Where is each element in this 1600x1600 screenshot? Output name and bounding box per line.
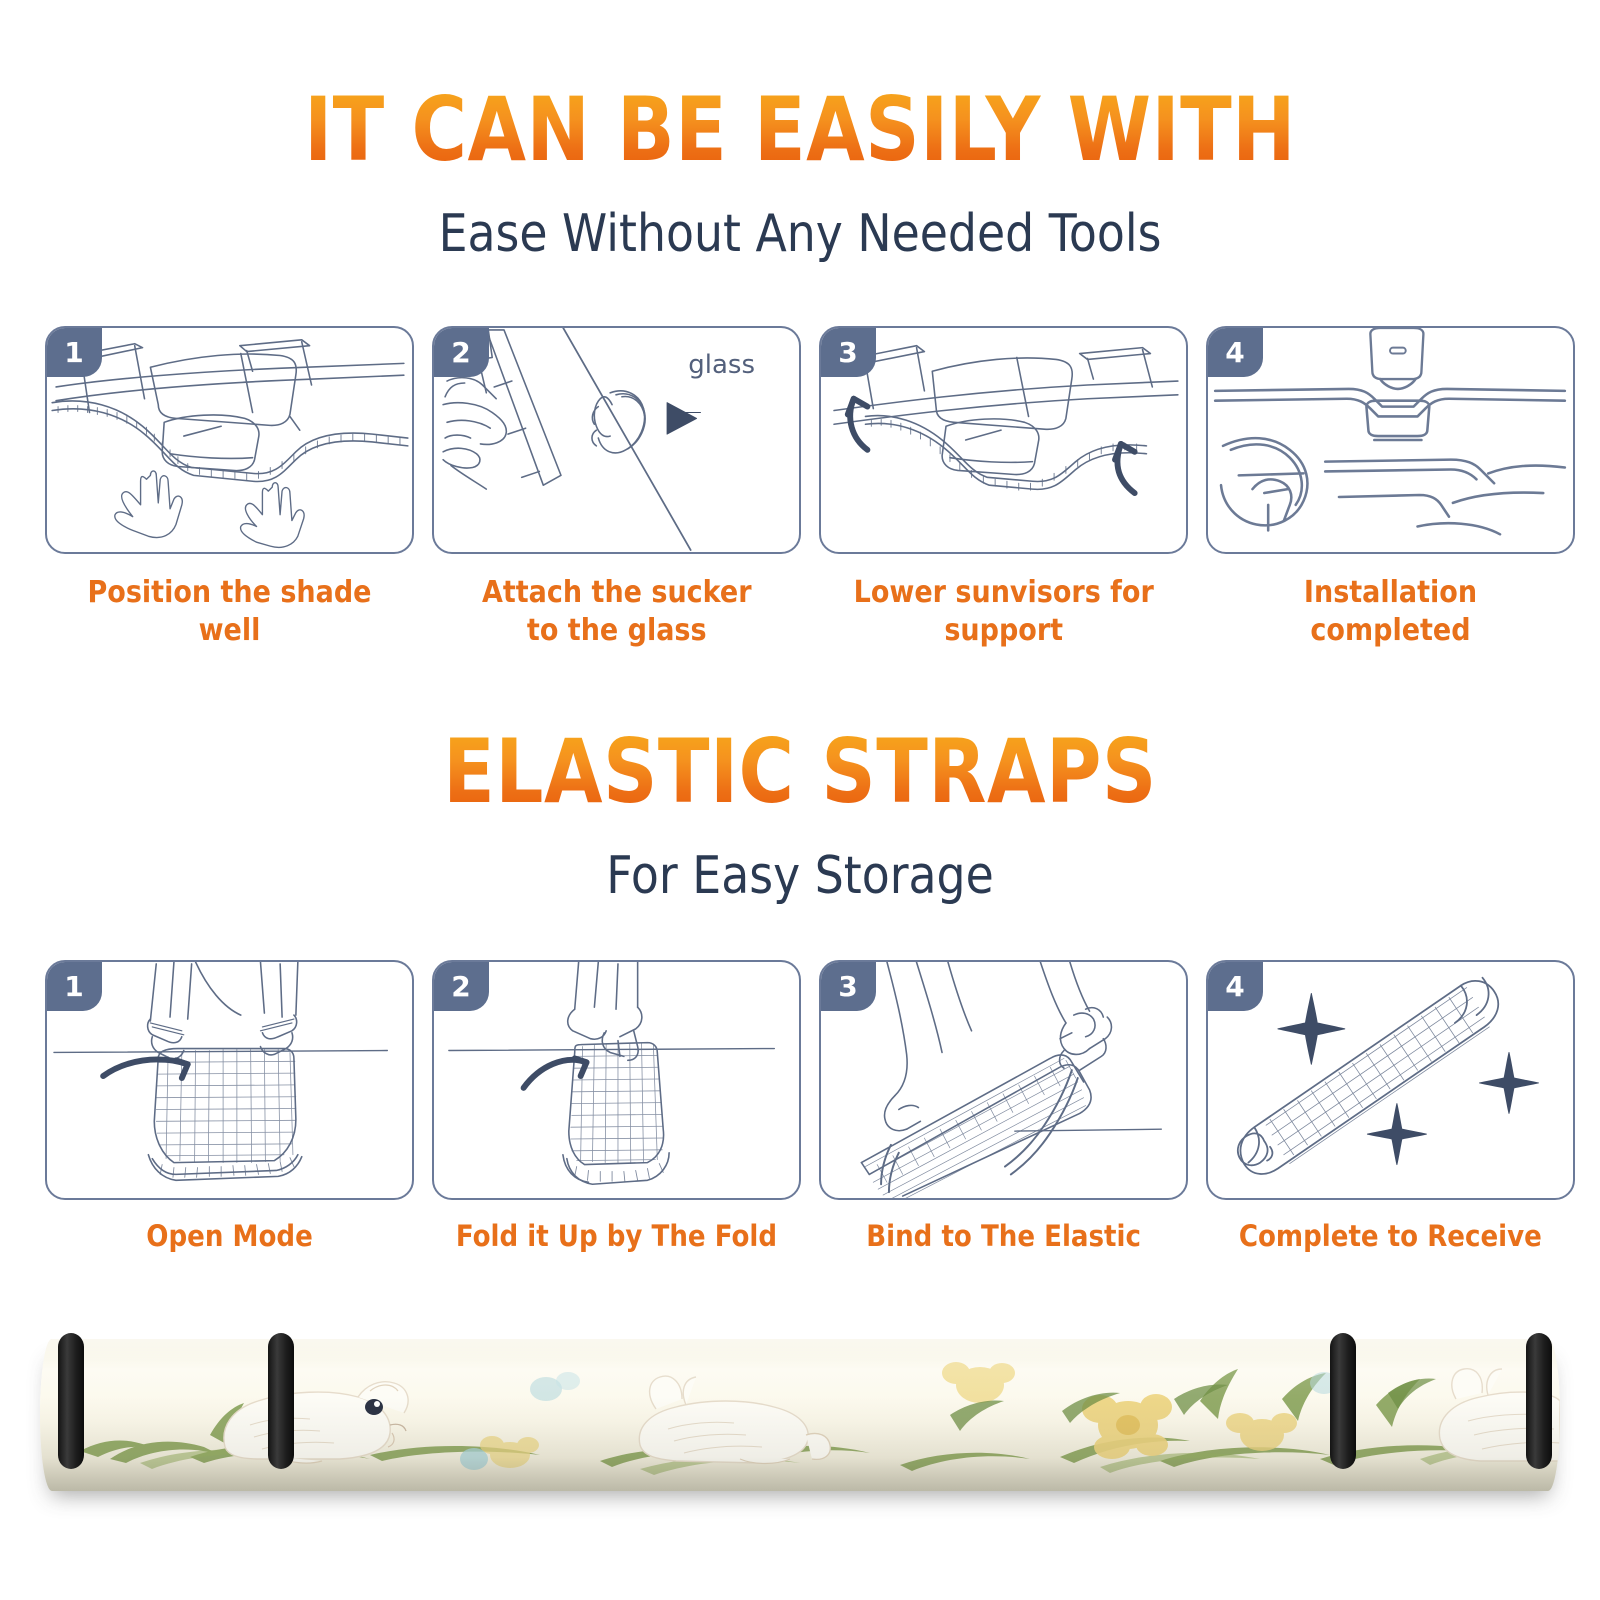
hands-open-mat-icon bbox=[47, 962, 412, 1198]
rolled-mat-sparkles-icon bbox=[1208, 962, 1573, 1198]
installation-title: IT CAN BE EASILY WITH bbox=[112, 86, 1488, 174]
step-caption: Bind to The Elastic bbox=[866, 1218, 1141, 1255]
storage-section-heading: ELASTIC STRAPS For Easy Storage bbox=[0, 728, 1600, 902]
step-caption: Open Mode bbox=[146, 1218, 313, 1255]
installation-step-3[interactable]: 3 bbox=[819, 326, 1188, 651]
storage-steps-row: 1 bbox=[45, 960, 1555, 1255]
step-number-badge: 1 bbox=[46, 961, 102, 1011]
step-number-badge: 2 bbox=[433, 327, 489, 377]
installation-section-heading: IT CAN BE EASILY WITH Ease Without Any N… bbox=[0, 86, 1600, 260]
step-card[interactable]: 4 bbox=[1206, 326, 1575, 554]
storage-step-1[interactable]: 1 bbox=[45, 960, 414, 1255]
step-number-badge: 2 bbox=[433, 961, 489, 1011]
step-caption: Position the shade well bbox=[63, 574, 395, 651]
step-number-badge: 4 bbox=[1207, 961, 1263, 1011]
step-caption: Complete to Receive bbox=[1239, 1218, 1542, 1255]
storage-subtitle: For Easy Storage bbox=[96, 850, 1504, 902]
step-number-badge: 4 bbox=[1207, 327, 1263, 377]
installation-steps-row: 1 bbox=[45, 326, 1555, 651]
step-card[interactable]: 3 bbox=[819, 326, 1188, 554]
storage-step-2[interactable]: 2 bbox=[432, 960, 801, 1255]
step-card[interactable]: 1 bbox=[45, 326, 414, 554]
hands-bind-roll-icon bbox=[821, 962, 1186, 1198]
installation-step-2[interactable]: 2 glass bbox=[432, 326, 801, 651]
step-number-badge: 3 bbox=[820, 327, 876, 377]
installation-step-4[interactable]: 4 bbox=[1206, 326, 1575, 651]
elastic-strap bbox=[268, 1333, 294, 1469]
hands-fold-mat-icon bbox=[434, 962, 799, 1198]
step-card[interactable]: 2 glass bbox=[432, 326, 801, 554]
storage-title: ELASTIC STRAPS bbox=[112, 728, 1488, 816]
sunvisors-down-arrows-icon bbox=[821, 328, 1186, 552]
elastic-strap bbox=[58, 1333, 84, 1469]
installation-subtitle: Ease Without Any Needed Tools bbox=[96, 208, 1504, 260]
step-card[interactable]: 3 bbox=[819, 960, 1188, 1200]
step-caption: Installation completed bbox=[1224, 574, 1556, 651]
installation-step-1[interactable]: 1 bbox=[45, 326, 414, 651]
storage-step-4[interactable]: 4 Complete t bbox=[1206, 960, 1575, 1255]
rolled-sunshade-photo bbox=[40, 1325, 1560, 1510]
step-caption: Lower sunvisors for support bbox=[853, 574, 1153, 651]
car-interior-hands-icon bbox=[47, 328, 412, 552]
glass-annotation-label: glass bbox=[688, 350, 755, 380]
elastic-strap bbox=[1526, 1333, 1552, 1469]
step-card[interactable]: 4 bbox=[1206, 960, 1575, 1200]
step-caption: Attach the sucker to the glass bbox=[482, 574, 752, 651]
step-card[interactable]: 1 bbox=[45, 960, 414, 1200]
step-number-badge: 3 bbox=[820, 961, 876, 1011]
step-number-badge: 1 bbox=[46, 327, 102, 377]
storage-step-3[interactable]: 3 bbox=[819, 960, 1188, 1255]
elastic-strap bbox=[1330, 1333, 1356, 1469]
step-card[interactable]: 2 bbox=[432, 960, 801, 1200]
windshield-installed-icon bbox=[1208, 328, 1573, 552]
step-caption: Fold it Up by The Fold bbox=[456, 1218, 777, 1255]
